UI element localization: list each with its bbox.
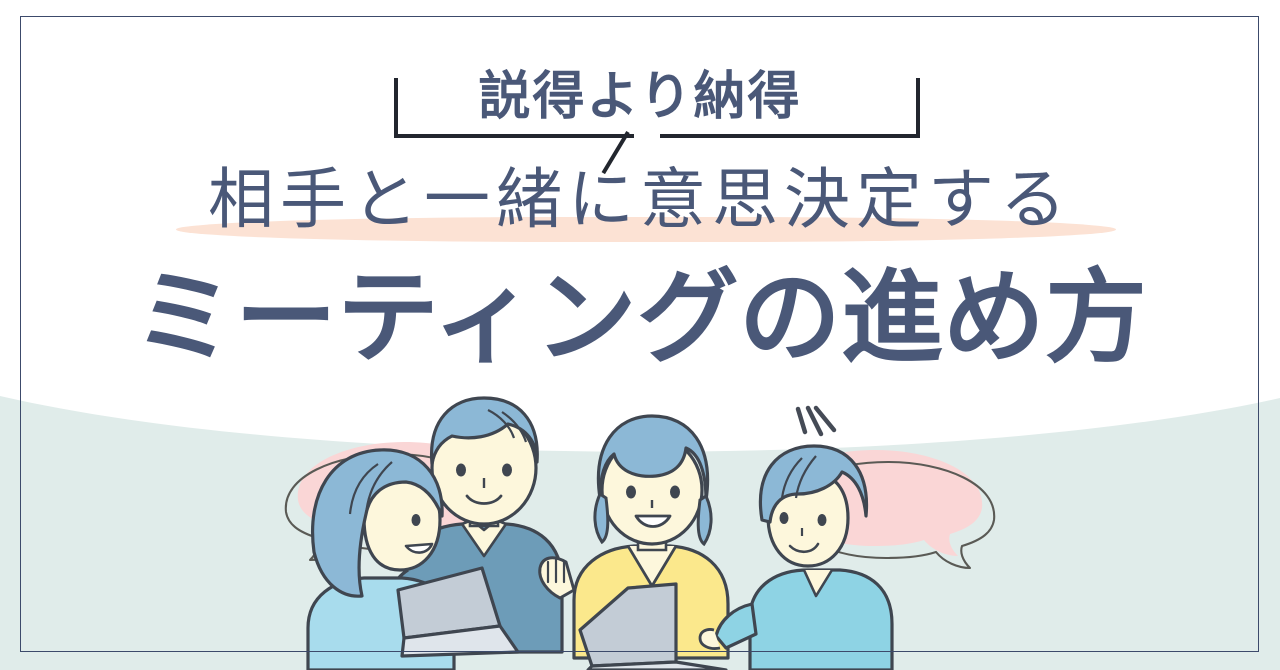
person-left-eye xyxy=(412,514,421,526)
person-center-left-eye-right xyxy=(502,464,512,477)
person-center-right-hair-right-side xyxy=(698,496,711,544)
person-right-eye-left xyxy=(780,512,789,524)
illustration-four-people-meeting xyxy=(256,390,1024,670)
eyebrow-section: 説得より納得 xyxy=(0,62,1280,172)
bracket-left-bar-icon xyxy=(394,134,634,138)
banner-root: 説得より納得 相手と一緒に意思決定する ミーティングの進め方 xyxy=(0,0,1280,670)
subtitle-text: 相手と一緒に意思決定する xyxy=(0,160,1280,240)
emphasis-lines-right-icon xyxy=(798,408,834,434)
eyebrow-text: 説得より納得 xyxy=(0,66,1280,128)
person-center-right-hair-left-side xyxy=(595,494,608,542)
person-center-right-eye-right xyxy=(670,486,680,499)
subtitle-section: 相手と一緒に意思決定する xyxy=(0,160,1280,252)
page-title: ミーティングの進め方 xyxy=(0,258,1280,380)
person-center-right-eye-left xyxy=(626,486,636,499)
person-right xyxy=(700,446,892,670)
person-center-left-eye-left xyxy=(456,464,466,477)
person-right-eye-right xyxy=(818,514,827,526)
bracket-right-bar-icon xyxy=(660,134,894,138)
